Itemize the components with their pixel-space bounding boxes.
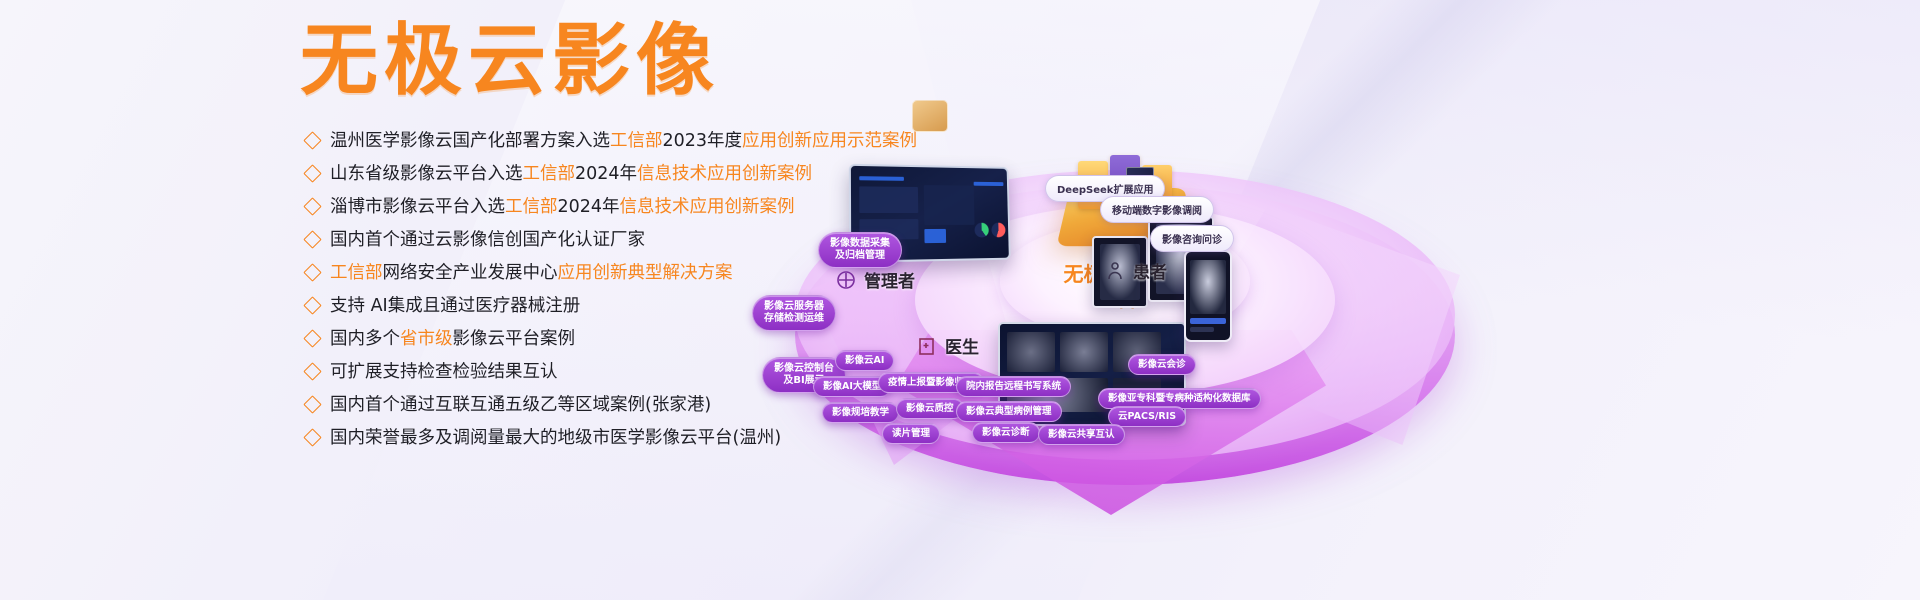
feature-bullet-text: 国内首个通过互联互通五级乙等区域案例(张家港) [330,394,711,416]
clipboard-plus-icon [916,335,938,357]
role-patient-label: 患者 [1133,258,1167,283]
capability-pill[interactable]: 影像云AI [835,350,894,371]
page-title: 无极云影像 [300,22,720,100]
scanner-icon-box [912,100,948,132]
plain-text: 国内首个通过云影像信创国产化认证厂家 [330,230,645,250]
plain-text: 国内多个 [330,329,400,349]
platform-architecture-diagram: 无极云 影像平台 [700,0,1920,600]
capability-pill[interactable]: 云PACS/RIS [1108,406,1186,427]
feature-bullet-text: 国内首个通过云影像信创国产化认证厂家 [330,229,645,251]
diamond-bullet-icon [303,362,321,380]
diamond-bullet-icon [303,131,321,149]
role-doctor[interactable]: 医生 [916,333,979,358]
diamond-bullet-icon [303,197,321,215]
plain-text: 支持 AI集成且通过医疗器械注册 [330,296,580,316]
plain-text: 2024年 [558,197,620,217]
capability-pill[interactable]: 影像数据采集 及归档管理 [818,232,902,268]
plain-text: 2024年 [575,164,637,184]
crosshair-icon [835,269,857,291]
plain-text: 网络安全产业发展中心 [383,263,558,283]
info-pill[interactable]: 影像咨询问诊 [1150,225,1234,252]
feature-bullet-text: 工信部网络安全产业发展中心应用创新典型解决方案 [330,262,733,284]
info-pill[interactable]: 移动端数字影像调阅 [1100,196,1214,223]
plain-text: 温州医学影像云国产化部署方案入选 [330,131,610,151]
diamond-bullet-icon [303,428,321,446]
capability-pill[interactable]: 影像云服务器 存储检测运维 [752,295,836,331]
highlighted-text: 工信部 [330,263,383,283]
role-doctor-label: 医生 [945,333,979,358]
person-icon [1104,260,1126,282]
role-admin[interactable]: 管理者 [835,267,915,292]
highlighted-text: 工信部 [505,197,558,217]
capability-pill[interactable]: 影像云诊断 [972,422,1040,443]
feature-bullet-text: 支持 AI集成且通过医疗器械注册 [330,295,580,317]
plain-text: 山东省级影像云平台入选 [330,164,523,184]
feature-bullet-text: 国内多个省市级影像云平台案例 [330,328,575,350]
highlighted-text: 工信部 [523,164,576,184]
mobile-phone-device [1184,250,1232,342]
plain-text: 淄博市影像云平台入选 [330,197,505,217]
plain-text: 可扩展支持检查检验结果互认 [330,362,558,382]
diamond-bullet-icon [303,296,321,314]
capability-pill[interactable]: 影像规培教学 [822,402,899,423]
capability-pill[interactable]: 影像云会诊 [1128,354,1196,375]
plain-text: 国内首个通过互联互通五级乙等区域案例(张家港) [330,395,711,415]
plain-text: 影像云平台案例 [453,329,576,349]
capability-pill[interactable]: 读片管理 [882,423,940,444]
diamond-bullet-icon [303,395,321,413]
diamond-bullet-icon [303,263,321,281]
highlighted-text: 工信部 [610,131,663,151]
highlighted-text: 省市级 [400,329,453,349]
role-patient[interactable]: 患者 [1104,258,1167,283]
capability-pill[interactable]: 院内报告远程书写系统 [956,376,1071,397]
diamond-bullet-icon [303,230,321,248]
diamond-bullet-icon [303,164,321,182]
role-admin-label: 管理者 [864,267,915,292]
capability-pill[interactable]: 影像云典型病例管理 [956,401,1062,422]
capability-pill[interactable]: 影像云共享互认 [1038,424,1125,445]
feature-bullet-text: 可扩展支持检查检验结果互认 [330,361,558,383]
diamond-bullet-icon [303,329,321,347]
capability-pill[interactable]: 影像云质控 [896,398,964,419]
promo-banner: 无极云影像 温州医学影像云国产化部署方案入选工信部2023年度应用创新应用示范案… [0,0,1920,600]
